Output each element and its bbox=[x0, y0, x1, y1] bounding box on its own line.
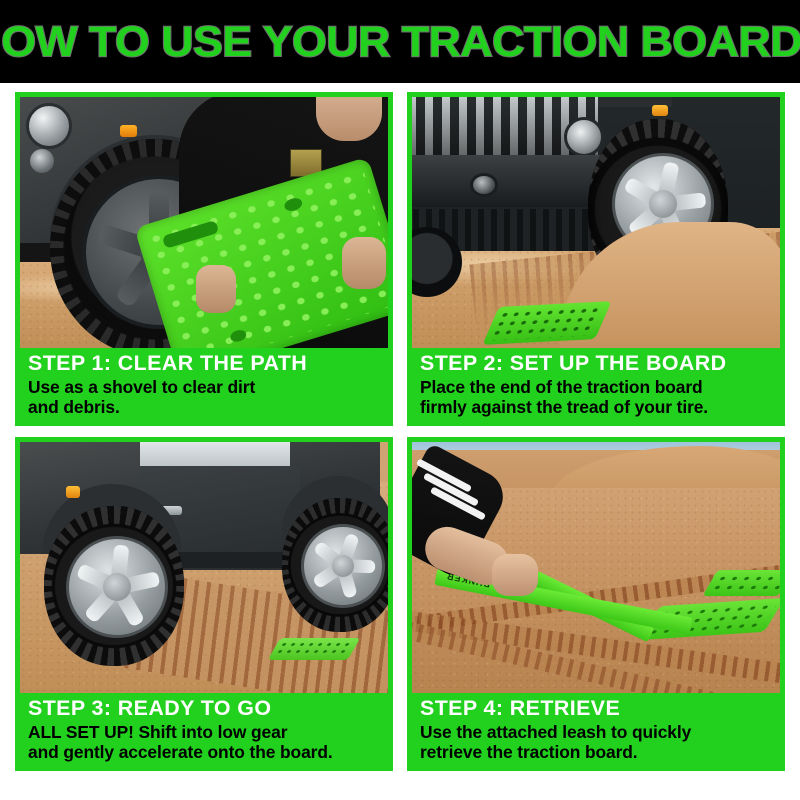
step-4-caption: STEP 4: RETRIEVE Use the attached leash … bbox=[412, 693, 780, 765]
wheel-hub bbox=[649, 190, 677, 218]
step-2-photo bbox=[412, 97, 780, 348]
step-4-body: Use the attached leash to quickly retrie… bbox=[420, 722, 772, 762]
step-2-heading: STEP 2: SET UP THE BOARD bbox=[420, 352, 779, 376]
fog-light-icon bbox=[30, 149, 54, 173]
marker-light-icon bbox=[652, 105, 668, 116]
second-traction-board bbox=[702, 570, 780, 596]
board-studs bbox=[272, 641, 355, 657]
step-2-caption: STEP 2: SET UP THE BOARD Place the end o… bbox=[412, 348, 780, 420]
steps-grid: STEP 1: CLEAR THE PATH Use as a shovel t… bbox=[15, 92, 785, 785]
hand-fist bbox=[492, 554, 538, 596]
step-panel-2: STEP 2: SET UP THE BOARD Place the end o… bbox=[407, 92, 785, 426]
scene-ready-to-go bbox=[20, 442, 388, 693]
step-1-body-line-1: Use as a shovel to clear dirt bbox=[28, 377, 380, 397]
step-panel-1: STEP 1: CLEAR THE PATH Use as a shovel t… bbox=[15, 92, 393, 426]
step-1-heading: STEP 1: CLEAR THE PATH bbox=[28, 352, 387, 376]
headlight-icon bbox=[26, 103, 72, 149]
headlight-icon bbox=[564, 117, 604, 157]
marker-light-icon bbox=[66, 486, 80, 498]
step-3-body-line-1: ALL SET UP! Shift into low gear bbox=[28, 722, 380, 742]
step-panel-4: BUNKER STEP 4: RETRIEVE Use the attached… bbox=[407, 437, 785, 771]
step-1-photo bbox=[20, 97, 388, 348]
step-3-photo bbox=[20, 442, 388, 693]
step-4-heading: STEP 4: RETRIEVE bbox=[420, 697, 779, 721]
step-1-body: Use as a shovel to clear dirt and debris… bbox=[28, 377, 380, 417]
step-4-photo: BUNKER bbox=[412, 442, 780, 693]
infographic-root: HOW TO USE YOUR TRACTION BOARDS bbox=[0, 0, 800, 800]
step-panel-3: STEP 3: READY TO GO ALL SET UP! Shift in… bbox=[15, 437, 393, 771]
header-banner: HOW TO USE YOUR TRACTION BOARDS bbox=[0, 0, 800, 83]
step-1-body-line-2: and debris. bbox=[28, 397, 380, 417]
step-3-heading: STEP 3: READY TO GO bbox=[28, 697, 387, 721]
step-3-caption: STEP 3: READY TO GO ALL SET UP! Shift in… bbox=[20, 693, 388, 765]
step-2-body-line-2: firmly against the tread of your tire. bbox=[420, 397, 772, 417]
green-traction-board bbox=[482, 301, 611, 345]
step-3-body-line-2: and gently accelerate onto the board. bbox=[28, 742, 380, 762]
scene-clear-the-path bbox=[20, 97, 388, 348]
tow-hook-hole bbox=[470, 173, 498, 197]
page-title: HOW TO USE YOUR TRACTION BOARDS bbox=[0, 21, 800, 64]
right-hand bbox=[342, 237, 386, 289]
board-studs bbox=[709, 574, 780, 592]
step-1-caption: STEP 1: CLEAR THE PATH Use as a shovel t… bbox=[20, 348, 388, 420]
wheel-hub bbox=[332, 555, 354, 577]
green-traction-board bbox=[268, 638, 361, 660]
step-4-body-line-1: Use the attached leash to quickly bbox=[420, 722, 772, 742]
step-2-body-line-1: Place the end of the traction board bbox=[420, 377, 772, 397]
step-3-body: ALL SET UP! Shift into low gear and gent… bbox=[28, 722, 380, 762]
left-hand bbox=[196, 265, 236, 313]
wheel-hub bbox=[103, 573, 131, 601]
scene-set-up-the-board bbox=[412, 97, 780, 348]
marker-light-icon bbox=[120, 125, 137, 137]
front-wheel-rim bbox=[66, 536, 168, 638]
step-2-body: Place the end of the traction board firm… bbox=[420, 377, 772, 417]
step-4-body-line-2: retrieve the traction board. bbox=[420, 742, 772, 762]
rear-wheel-rim bbox=[301, 524, 385, 608]
board-studs bbox=[488, 305, 606, 340]
scene-retrieve: BUNKER bbox=[412, 442, 780, 693]
